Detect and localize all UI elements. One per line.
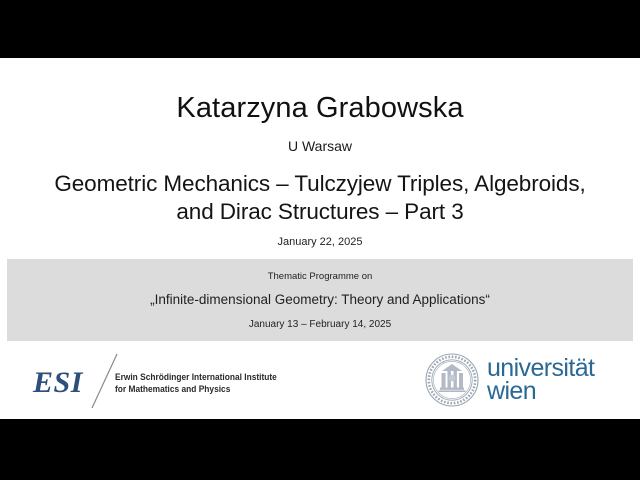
talk-title-line-2: and Dirac Structures – Part 3 (8, 198, 632, 226)
speaker-name: Katarzyna Grabowska (0, 91, 640, 125)
speaker-affiliation: U Warsaw (0, 138, 640, 155)
esi-logo: ESI Erwin Schrödinger International Inst… (33, 353, 273, 409)
programme-label: Thematic Programme on (7, 271, 633, 283)
presentation-title-slide: Katarzyna Grabowska U Warsaw Geometric M… (0, 58, 640, 419)
university-vienna-wordmark: universität wien (487, 357, 594, 403)
logo-row: ESI Erwin Schrödinger International Inst… (0, 347, 640, 415)
conference-banner: Thematic Programme on „Infinite-dimensio… (7, 259, 633, 341)
talk-title: Geometric Mechanics – Tulczyjew Triples,… (8, 170, 632, 226)
esi-monogram-text: ESI (33, 367, 83, 399)
talk-title-line-1: Geometric Mechanics – Tulczyjew Triples,… (8, 170, 632, 198)
esi-name-line-2: for Mathematics and Physics (115, 383, 264, 395)
letterbox-bar-top (0, 0, 640, 58)
talk-date: January 22, 2025 (0, 235, 640, 249)
letterbox-bar-bottom (0, 419, 640, 480)
esi-wordmark: Erwin Schrödinger International Institut… (115, 371, 275, 395)
university-seal-icon (425, 353, 479, 407)
esi-name-line-1: Erwin Schrödinger International Institut… (115, 371, 264, 383)
programme-dates: January 13 – February 14, 2025 (7, 318, 633, 331)
programme-title: „Infinite-dimensional Geometry: Theory a… (7, 291, 633, 308)
video-frame: Katarzyna Grabowska U Warsaw Geometric M… (0, 0, 640, 480)
university-word-wien: wien (487, 380, 594, 403)
university-vienna-logo: universität wien (425, 349, 615, 411)
